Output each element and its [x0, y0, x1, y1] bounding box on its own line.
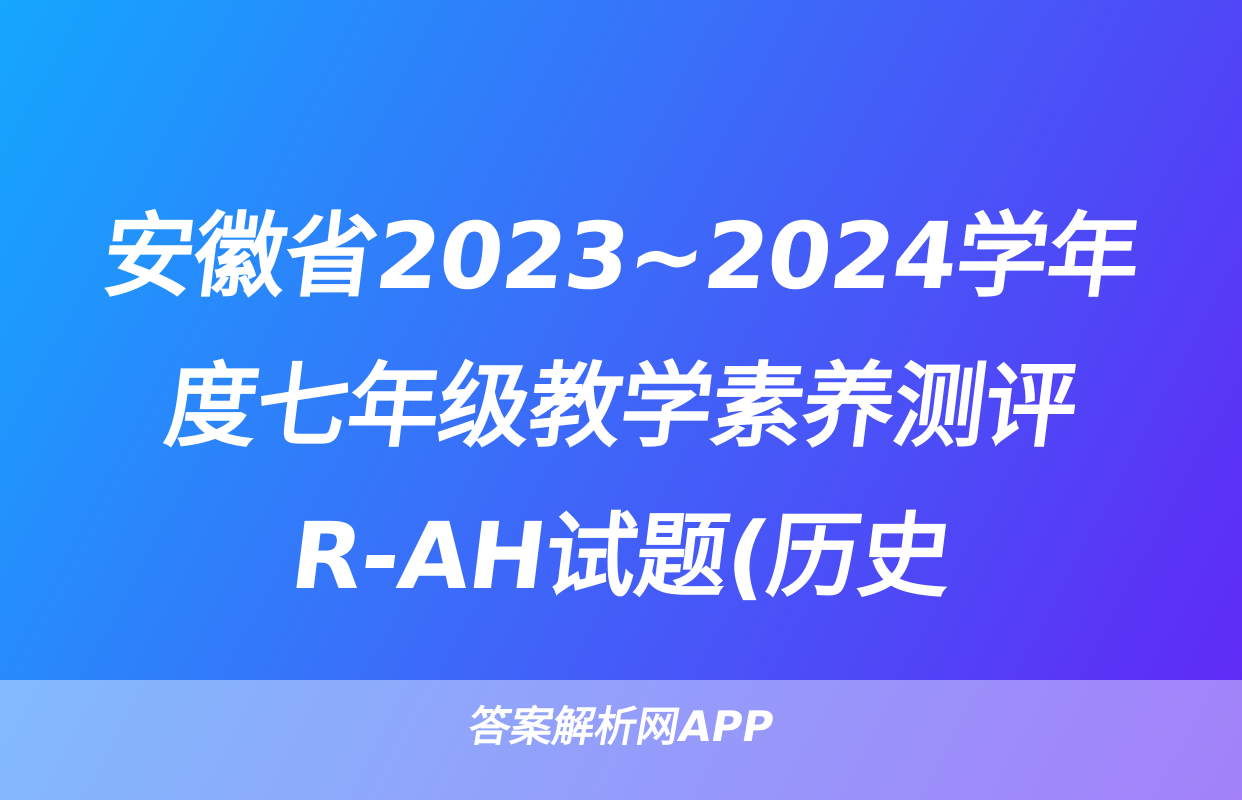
title-line-1: 安徽省2023~2024学年 — [0, 182, 1242, 332]
page-title: 安徽省2023~2024学年 度七年级教学素养测评 R-AH试题(历史 — [0, 182, 1242, 632]
title-line-3: R-AH试题(历史 — [0, 482, 1242, 632]
watermark-label: 答案解析网APP — [464, 700, 778, 754]
watermark: 答案解析网APP — [0, 700, 1242, 754]
title-line-2: 度七年级教学素养测评 — [0, 332, 1242, 482]
exam-cover-banner: 安徽省2023~2024学年 度七年级教学素养测评 R-AH试题(历史 答案解析… — [0, 0, 1242, 800]
